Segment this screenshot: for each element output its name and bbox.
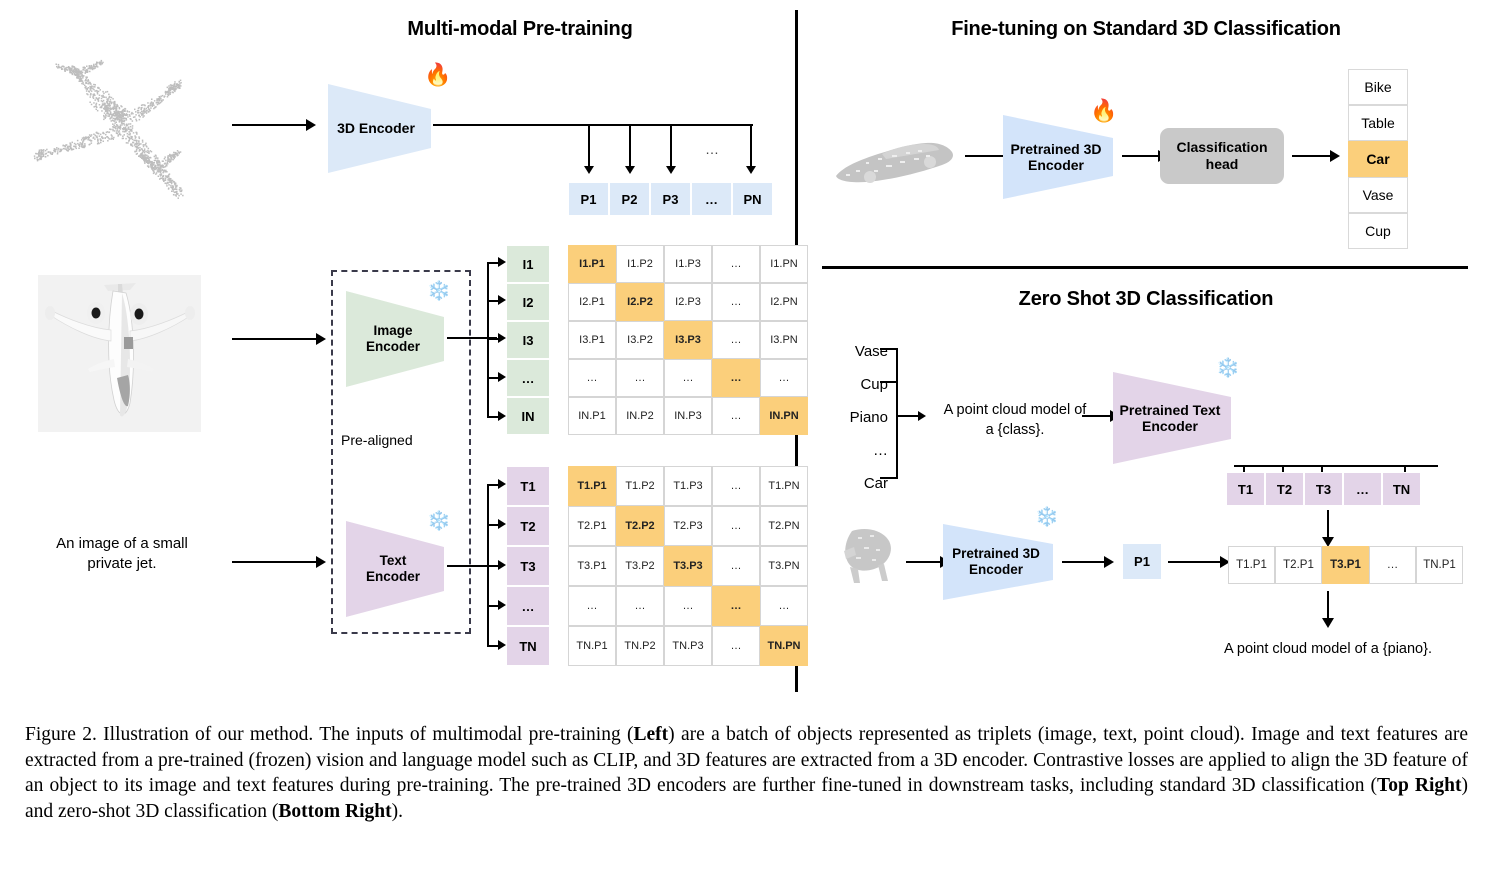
arrow-pointcloud-to-3d-encoder: [232, 124, 308, 126]
bus-drop-p3: [670, 124, 672, 167]
snowflake-icon: ❄️: [1216, 359, 1240, 378]
bus-text-encoder-to-t-tokens: [1234, 465, 1438, 467]
caption-text: ).: [392, 801, 403, 822]
zeroshot-similarity-cell[interactable]: T3.P1: [1322, 546, 1369, 584]
image-similarity-cell[interactable]: I2.P3: [664, 283, 712, 321]
text-similarity-cell[interactable]: …: [616, 586, 664, 626]
zeroshot-t-token-row: T1 T2 T3 … TN: [1226, 472, 1421, 506]
t-token-column: T1 T2 T3 … TN: [506, 466, 550, 666]
bus-drop-p1-head: [584, 166, 594, 174]
image-similarity-cell[interactable]: …: [760, 359, 808, 397]
pretrained-3d-encoder-zeroshot-line2: Encoder: [969, 562, 1023, 577]
snowflake-icon: ❄️: [1035, 508, 1059, 527]
zs-t-token[interactable]: T2: [1265, 472, 1304, 506]
bus-drop-pn: [750, 124, 752, 167]
image-similarity-cell[interactable]: I3.PN: [760, 321, 808, 359]
text-similarity-cell[interactable]: T2.P1: [568, 506, 616, 546]
zeroshot-bracket-tick: [880, 381, 898, 383]
image-similarity-cell[interactable]: I3.P1: [568, 321, 616, 359]
text-similarity-cell[interactable]: T1.P1: [568, 466, 616, 506]
arrow-text-to-text-encoder-head: [316, 556, 326, 568]
class-label-item[interactable]: Cup: [1348, 213, 1408, 249]
zeroshot-similarity-cell[interactable]: T1.P1: [1228, 546, 1275, 584]
text-similarity-cell[interactable]: TN.PN: [760, 626, 808, 666]
text-similarity-cell[interactable]: TN.P3: [664, 626, 712, 666]
text-similarity-cell[interactable]: …: [664, 586, 712, 626]
caption-emphasis: Top Right: [1377, 775, 1461, 796]
image-similarity-cell[interactable]: …: [712, 321, 760, 359]
image-similarity-cell[interactable]: …: [712, 397, 760, 435]
zeroshot-similarity-cell[interactable]: T2.P1: [1275, 546, 1322, 584]
encoder-text-label-line2: Encoder: [366, 569, 420, 584]
caption-emphasis: Left: [634, 724, 669, 745]
fanout-image-branch-head: [498, 411, 506, 421]
encoder-3d-label: 3D Encoder: [337, 120, 415, 136]
text-similarity-cell[interactable]: …: [712, 586, 760, 626]
text-similarity-row: TN.P1TN.P2TN.P3…TN.PN: [568, 626, 808, 666]
text-input-line2: private jet.: [24, 554, 220, 574]
image-similarity-row: IN.P1IN.P2IN.P3…IN.PN: [568, 397, 808, 435]
encoder-image[interactable]: Image Encoder: [343, 289, 447, 389]
zeroshot-class-item[interactable]: Piano: [826, 401, 888, 434]
i-token[interactable]: IN: [506, 397, 550, 435]
caption-emphasis: Bottom Right: [278, 801, 391, 822]
text-similarity-cell[interactable]: T3.P2: [616, 546, 664, 586]
t-token[interactable]: TN: [506, 626, 550, 666]
encoder-image-label-line2: Encoder: [366, 339, 420, 354]
text-similarity-cell[interactable]: T2.PN: [760, 506, 808, 546]
arrow-head-to-labels: [1292, 155, 1332, 157]
text-similarity-matrix: T1.P1T1.P2T1.P3…T1.PNT2.P1T2.P2T2.P3…T2.…: [568, 466, 808, 666]
image-similarity-cell[interactable]: I1.P3: [664, 245, 712, 283]
fire-icon: 🔥: [1090, 100, 1117, 122]
pretrained-text-encoder-line1: Pretrained Text: [1120, 402, 1221, 418]
t-token[interactable]: T2: [506, 506, 550, 546]
zs-t-token[interactable]: T3: [1304, 472, 1343, 506]
pretrained-text-encoder[interactable]: Pretrained Text Encoder: [1110, 370, 1234, 466]
bus-drop-p1: [588, 124, 590, 167]
bus-drop-p3-head: [666, 166, 676, 174]
arrow-image-to-image-encoder-head: [316, 333, 326, 345]
image-similarity-cell[interactable]: …: [568, 359, 616, 397]
prompt-template-line1: A point cloud model of: [924, 401, 1106, 421]
arrow-encoder-to-p1: [1062, 561, 1106, 563]
pretrained-3d-encoder-finetune-line2: Encoder: [1028, 157, 1084, 173]
arrow-similarity-to-result: [1327, 591, 1329, 619]
pre-aligned-label: Pre-aligned: [341, 432, 413, 448]
p-token-row: P1 P2 P3 … PN: [568, 182, 773, 216]
pretrained-3d-encoder-finetune[interactable]: Pretrained 3D Encoder: [1000, 113, 1116, 201]
fire-icon: 🔥: [424, 64, 451, 86]
arrow-encoder-to-p1-head: [1104, 556, 1114, 568]
pretrained-3d-encoder-finetune-line1: Pretrained 3D: [1010, 141, 1101, 157]
text-similarity-cell[interactable]: T1.P3: [664, 466, 712, 506]
fanout-text-branch-head: [498, 640, 506, 650]
image-similarity-cell[interactable]: …: [712, 359, 760, 397]
p-token[interactable]: …: [691, 182, 732, 216]
arrow-encoder-to-head: [1122, 155, 1160, 157]
airplane-point-cloud: [20, 45, 240, 235]
zeroshot-similarity-cells: T1.P1T2.P1T3.P1…TN.P1: [1228, 546, 1463, 584]
panel-divider-horizontal: [822, 266, 1468, 269]
bus-3d-encoder-to-p-tokens: [433, 124, 753, 126]
image-similarity-cell[interactable]: IN.P3: [664, 397, 712, 435]
arrow-p1-to-similarity: [1168, 561, 1222, 563]
image-similarity-row: I1.P1I1.P2I1.P3…I1.PN: [568, 245, 808, 283]
i-token[interactable]: I3: [506, 321, 550, 359]
arrow-head-to-labels-head: [1330, 150, 1340, 162]
classification-head-line2: head: [1206, 156, 1239, 172]
image-similarity-cell[interactable]: I3.P2: [616, 321, 664, 359]
image-similarity-cell[interactable]: I1.PN: [760, 245, 808, 283]
text-similarity-cell[interactable]: …: [712, 546, 760, 586]
arrow-pointcloud-to-3d-encoder-head: [306, 119, 316, 131]
snowflake-icon: ❄️: [427, 282, 451, 301]
bus-drop-p2-head: [625, 166, 635, 174]
zeroshot-class-item[interactable]: Cup: [826, 368, 888, 401]
image-similarity-cell[interactable]: I2.P2: [616, 283, 664, 321]
zs-t-token[interactable]: T1: [1226, 472, 1265, 506]
fanout-image-branch-head: [498, 295, 506, 305]
zeroshot-result-text: A point cloud model of a {piano}.: [1180, 641, 1476, 657]
t-token[interactable]: T3: [506, 546, 550, 586]
t-token[interactable]: T1: [506, 466, 550, 506]
text-input-caption: An image of a small private jet.: [24, 534, 220, 575]
arrow-t-row-to-similarity: [1327, 510, 1329, 538]
text-similarity-cell[interactable]: …: [712, 506, 760, 546]
encoder-text[interactable]: Text Encoder: [343, 519, 447, 619]
text-input-line1: An image of a small: [24, 534, 220, 554]
bottomright-panel-title: Zero Shot 3D Classification: [822, 288, 1470, 311]
text-similarity-cell[interactable]: TN.P1: [568, 626, 616, 666]
class-label-item[interactable]: Bike: [1348, 69, 1408, 105]
car-point-cloud: [826, 130, 962, 190]
fanout-image-branch-head: [498, 333, 506, 343]
t-token[interactable]: …: [506, 586, 550, 626]
zeroshot-p-token[interactable]: P1: [1122, 543, 1162, 580]
zeroshot-class-list: VaseCupPiano…Car: [826, 335, 888, 500]
fanout-text-branch-head: [498, 479, 506, 489]
text-similarity-row: ……………: [568, 586, 808, 626]
zs-t-token[interactable]: …: [1343, 472, 1382, 506]
figure-caption: Figure 2. Illustration of our method. Th…: [25, 722, 1468, 825]
encoder-3d[interactable]: 3D Encoder: [325, 82, 433, 175]
image-similarity-cell[interactable]: I1.P1: [568, 245, 616, 283]
piano-point-cloud: [830, 523, 910, 589]
image-similarity-cell[interactable]: I2.PN: [760, 283, 808, 321]
zs-t-token[interactable]: TN: [1382, 472, 1421, 506]
text-similarity-cell[interactable]: …: [712, 626, 760, 666]
image-similarity-cell[interactable]: I2.P1: [568, 283, 616, 321]
image-similarity-row: I3.P1I3.P2I3.P3…I3.PN: [568, 321, 808, 359]
bus-ellipsis-p: …: [705, 141, 719, 157]
pretrained-text-encoder-line2: Encoder: [1142, 418, 1198, 434]
left-panel-title: Multi-modal Pre-training: [240, 18, 800, 41]
p-token[interactable]: P2: [609, 182, 650, 216]
class-label-item[interactable]: Car: [1348, 141, 1408, 177]
text-similarity-cell[interactable]: …: [568, 586, 616, 626]
image-similarity-cell[interactable]: …: [664, 359, 712, 397]
class-label-item[interactable]: Vase: [1348, 177, 1408, 213]
fanout-image-branch-head: [498, 257, 506, 267]
text-similarity-cell[interactable]: T3.P3: [664, 546, 712, 586]
image-similarity-row: ……………: [568, 359, 808, 397]
classification-head[interactable]: Classification head: [1160, 128, 1284, 184]
fanout-text-branch-head: [498, 560, 506, 570]
text-similarity-cell[interactable]: …: [760, 586, 808, 626]
zeroshot-similarity-row: T1.P1T2.P1T3.P1…TN.P1: [1228, 546, 1463, 584]
bus-drop-pn-head: [746, 166, 756, 174]
fanout-text-branch-head: [498, 519, 506, 529]
zeroshot-similarity-cell[interactable]: …: [1369, 546, 1416, 584]
arrow-text-to-text-encoder: [232, 561, 318, 563]
i-token[interactable]: I1: [506, 245, 550, 283]
class-label-item[interactable]: Table: [1348, 105, 1408, 141]
arrow-piano-to-encoder: [906, 561, 942, 563]
arrow-similarity-to-result-head: [1322, 618, 1334, 628]
p-token[interactable]: PN: [732, 182, 773, 216]
arrow-car-to-encoder: [965, 155, 1005, 157]
caption-text: Figure 2. Illustration of our method. Th…: [25, 724, 634, 745]
p-token[interactable]: P1: [568, 182, 609, 216]
p-token[interactable]: P3: [650, 182, 691, 216]
encoder-image-label-line1: Image: [373, 323, 412, 338]
text-similarity-cell[interactable]: …: [712, 466, 760, 506]
arrow-image-to-image-encoder: [232, 338, 318, 340]
text-similarity-cell[interactable]: T3.PN: [760, 546, 808, 586]
zeroshot-class-item[interactable]: …: [826, 434, 888, 467]
zeroshot-bracket-tick: [880, 348, 898, 350]
zeroshot-class-item[interactable]: Vase: [826, 335, 888, 368]
zeroshot-bracket: [896, 348, 898, 478]
prompt-template-line2: a {class}.: [924, 421, 1106, 441]
image-similarity-cell[interactable]: I3.P3: [664, 321, 712, 359]
text-similarity-row: T1.P1T1.P2T1.P3…T1.PN: [568, 466, 808, 506]
encoder-text-label-line1: Text: [380, 553, 407, 568]
snowflake-icon: ❄️: [427, 512, 451, 531]
image-similarity-cell[interactable]: IN.PN: [760, 397, 808, 435]
zeroshot-class-item[interactable]: Car: [826, 467, 888, 500]
text-similarity-cell[interactable]: T3.P1: [568, 546, 616, 586]
bus-drop-p2: [629, 124, 631, 167]
image-similarity-cell[interactable]: I1.P2: [616, 245, 664, 283]
text-similarity-row: T2.P1T2.P2T2.P3…T2.PN: [568, 506, 808, 546]
class-label-list: BikeTableCarVaseCup: [1348, 69, 1408, 249]
zeroshot-bracket-tick: [880, 477, 898, 479]
text-similarity-cell[interactable]: T1.P2: [616, 466, 664, 506]
image-similarity-row: I2.P1I2.P2I2.P3…I2.PN: [568, 283, 808, 321]
arrow-classlist-to-prompt: [896, 415, 920, 417]
fanout-image-branch-head: [498, 372, 506, 382]
image-similarity-matrix: I1.P1I1.P2I1.P3…I1.PNI2.P1I2.P2I2.P3…I2.…: [568, 245, 808, 435]
image-similarity-cell[interactable]: IN.P1: [568, 397, 616, 435]
jet-image: [38, 275, 201, 432]
image-similarity-cell[interactable]: …: [616, 359, 664, 397]
arrow-prompt-to-text-encoder: [1082, 415, 1112, 417]
pretrained-3d-encoder-zeroshot-line1: Pretrained 3D: [952, 546, 1040, 561]
text-similarity-row: T3.P1T3.P2T3.P3…T3.PN: [568, 546, 808, 586]
zeroshot-similarity-cell[interactable]: TN.P1: [1416, 546, 1463, 584]
pretrained-3d-encoder-zeroshot[interactable]: Pretrained 3D Encoder: [940, 522, 1056, 602]
prompt-template: A point cloud model of a {class}.: [924, 401, 1106, 440]
text-similarity-cell[interactable]: T2.P3: [664, 506, 712, 546]
i-token[interactable]: …: [506, 359, 550, 397]
image-similarity-cell[interactable]: …: [712, 283, 760, 321]
fanout-text-branch-head: [498, 600, 506, 610]
classification-head-line1: Classification: [1176, 139, 1267, 155]
topright-panel-title: Fine-tuning on Standard 3D Classificatio…: [822, 18, 1470, 41]
text-similarity-cell[interactable]: TN.P2: [616, 626, 664, 666]
text-similarity-cell[interactable]: T2.P2: [616, 506, 664, 546]
i-token-column: I1 I2 I3 … IN: [506, 245, 550, 435]
image-similarity-cell[interactable]: …: [712, 245, 760, 283]
image-similarity-cell[interactable]: IN.P2: [616, 397, 664, 435]
i-token[interactable]: I2: [506, 283, 550, 321]
text-similarity-cell[interactable]: T1.PN: [760, 466, 808, 506]
